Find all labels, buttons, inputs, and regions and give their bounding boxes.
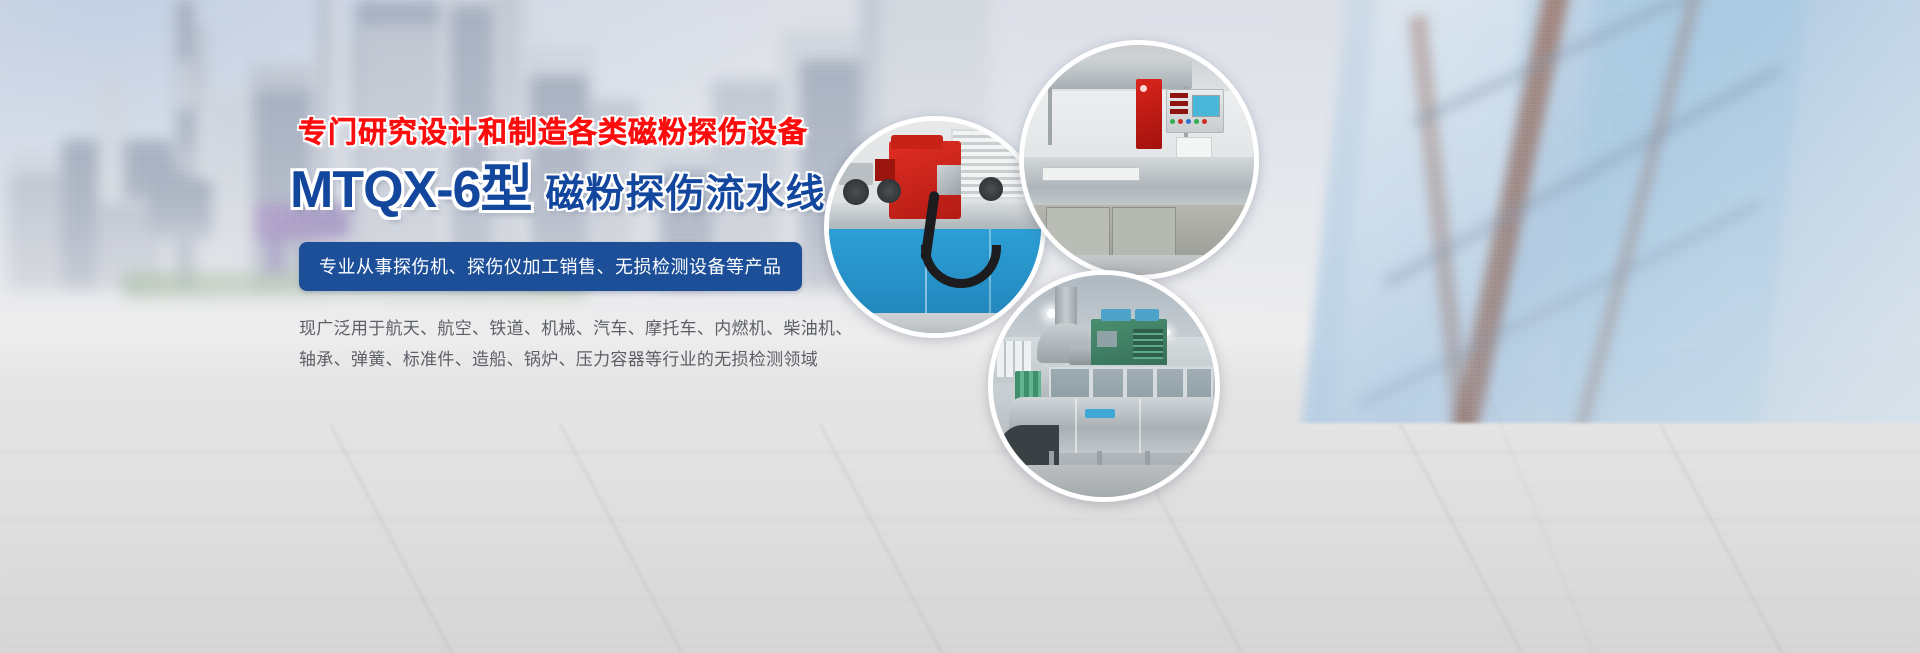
headline-model: MTQX-6型 xyxy=(290,164,531,216)
promo-banner: 专门研究设计和制造各类磁粉探伤设备 MTQX-6型 磁粉探伤流水线 专业从事探伤… xyxy=(0,0,1920,653)
headline-blue: MTQX-6型 磁粉探伤流水线 xyxy=(290,164,806,216)
photo-tunnel-line[interactable] xyxy=(988,270,1220,502)
description-block: 现广泛用于航天、航空、铁道、机械、汽车、摩托车、内燃机、柴油机、 轴承、弹簧、标… xyxy=(299,313,806,376)
tagline-pill[interactable]: 专业从事探伤机、探伤仪加工销售、无损检测设备等产品 xyxy=(299,242,802,291)
photo-production-line[interactable] xyxy=(1019,40,1259,280)
headline-red: 专门研究设计和制造各类磁粉探伤设备 xyxy=(298,118,806,150)
headline-product: 磁粉探伤流水线 xyxy=(545,175,825,214)
description-line-1: 现广泛用于航天、航空、铁道、机械、汽车、摩托车、内燃机、柴油机、 xyxy=(299,313,806,344)
banner-text-block: 专门研究设计和制造各类磁粉探伤设备 MTQX-6型 磁粉探伤流水线 专业从事探伤… xyxy=(286,118,806,376)
background-plaza-floor xyxy=(0,423,1920,653)
description-line-2: 轴承、弹簧、标准件、造船、锅炉、压力容器等行业的无损检测领域 xyxy=(299,344,806,375)
